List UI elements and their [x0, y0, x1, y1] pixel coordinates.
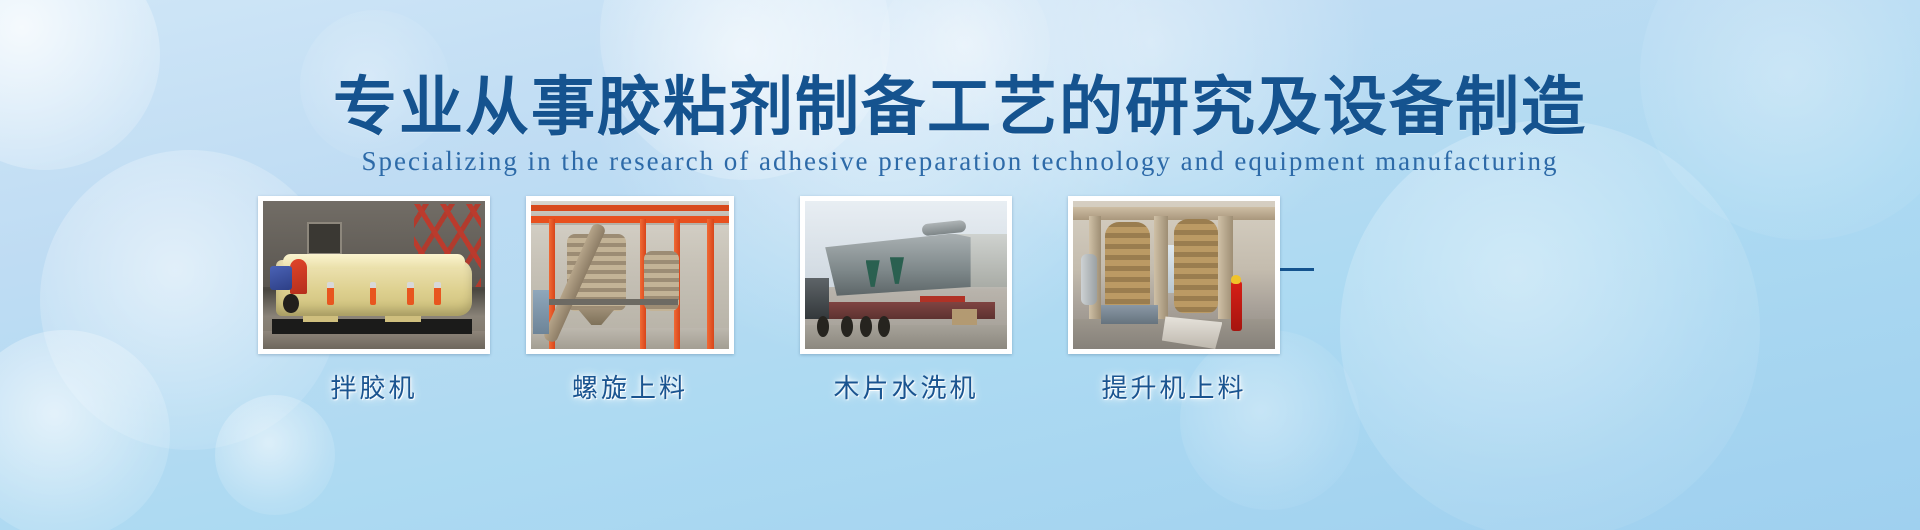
process-step[interactable]: 木片水洗机 — [800, 196, 1012, 354]
process-step-caption: 螺旋上料 — [526, 368, 734, 405]
process-step-caption: 木片水洗机 — [800, 368, 1012, 405]
process-flow-strip: 拌胶机 螺旋上料 — [0, 196, 1920, 436]
glue-mixer-photo[interactable] — [258, 196, 490, 354]
process-step-caption: 提升机上料 — [1068, 368, 1280, 405]
elevator-feeding-photo[interactable] — [1068, 196, 1280, 354]
process-step[interactable]: 拌胶机 — [258, 196, 490, 354]
hero-banner: 专业从事胶粘剂制备工艺的研究及设备制造 Specializing in the … — [0, 0, 1920, 530]
process-step[interactable]: 提升机上料 — [1068, 196, 1280, 354]
banner-subheadline: Specializing in the research of adhesive… — [0, 146, 1920, 177]
screw-feeder-photo[interactable] — [526, 196, 734, 354]
wood-chip-washer-photo[interactable] — [800, 196, 1012, 354]
process-step[interactable]: 螺旋上料 — [526, 196, 734, 354]
process-step-caption: 拌胶机 — [258, 368, 490, 405]
banner-headline: 专业从事胶粘剂制备工艺的研究及设备制造 — [0, 56, 1920, 148]
